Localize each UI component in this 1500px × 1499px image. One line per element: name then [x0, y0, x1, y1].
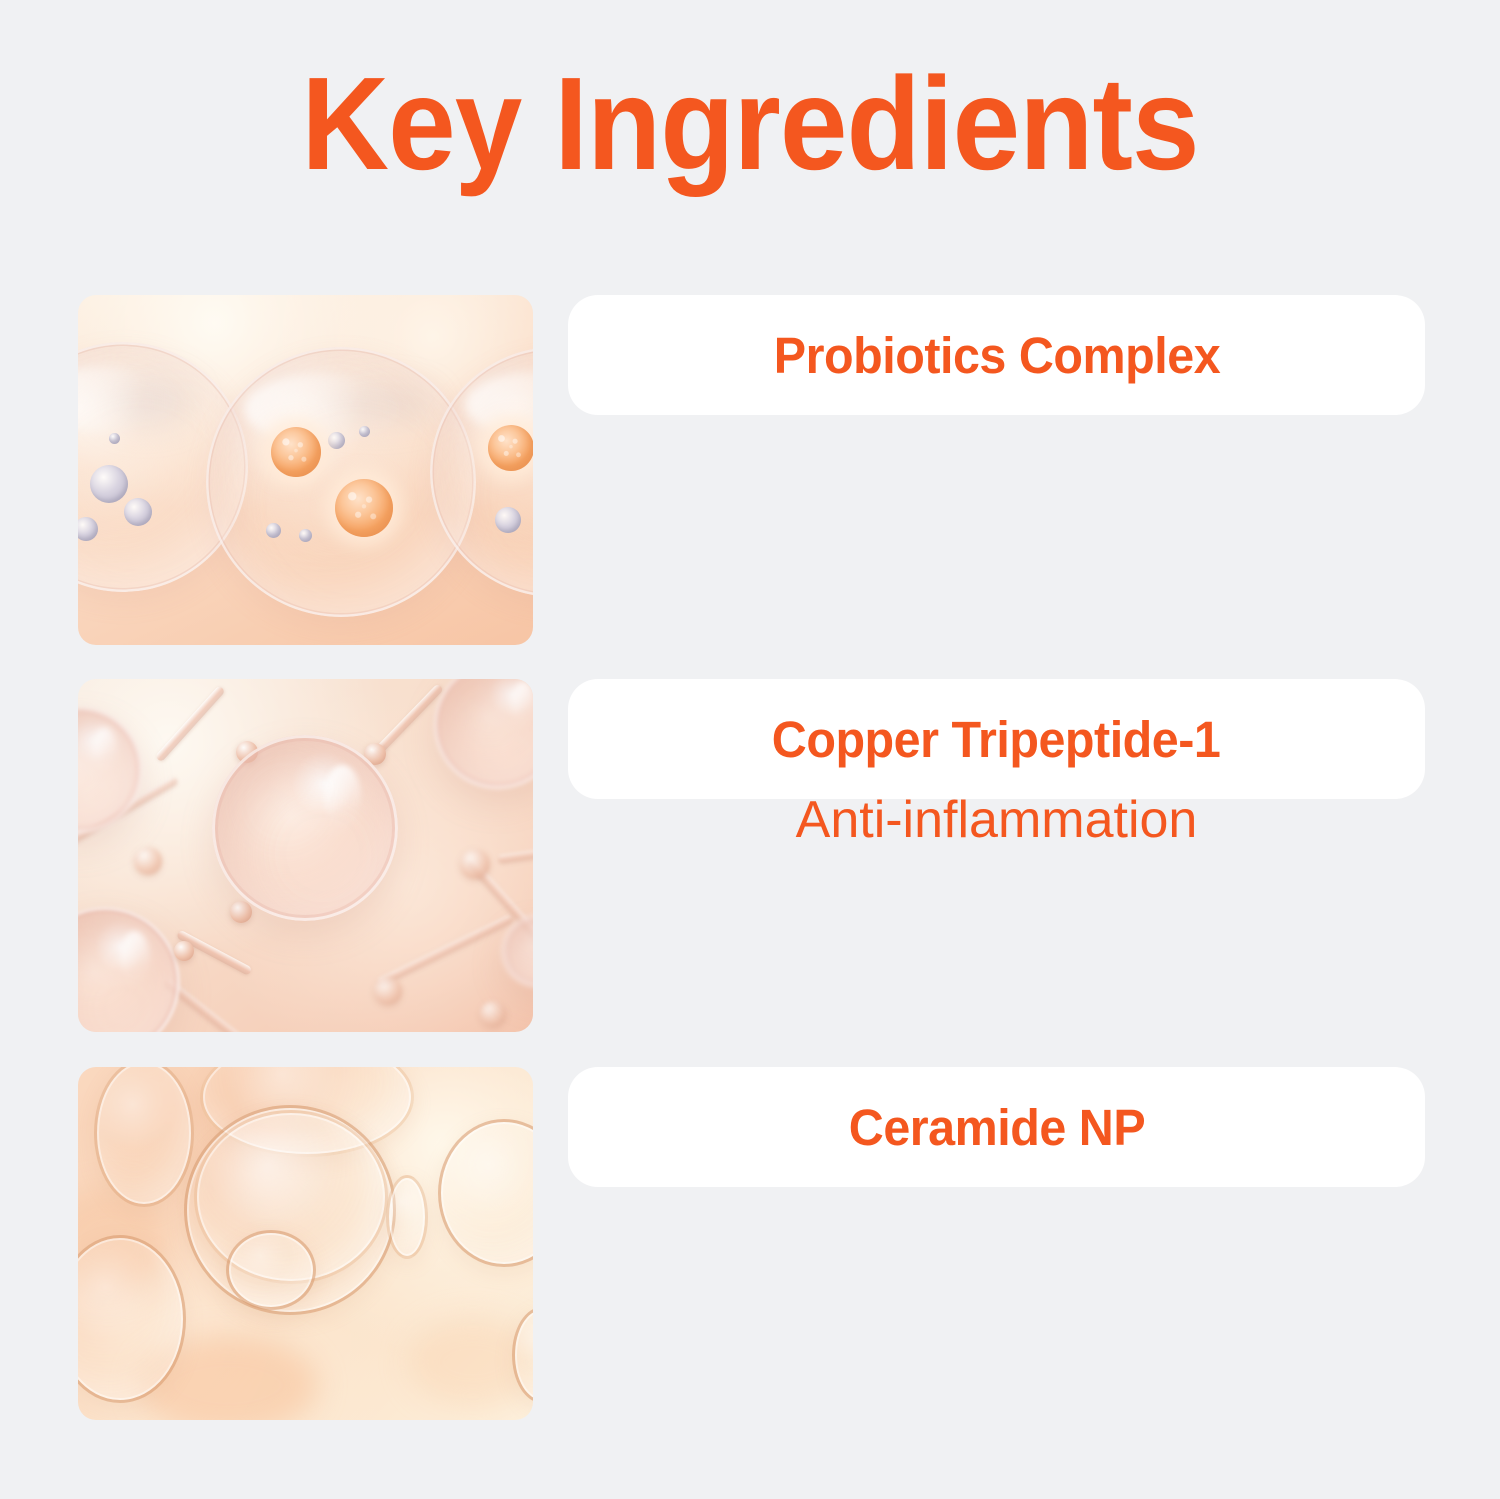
- bubble-ring: [226, 1230, 316, 1310]
- molecular-bond: [497, 838, 533, 864]
- bubble-ring: [386, 1175, 428, 1259]
- molecular-sphere: [78, 707, 142, 833]
- molecular-node: [480, 1001, 506, 1027]
- bubble-ring: [94, 1067, 194, 1207]
- ingredient-name-label: Ceramide NP: [848, 1098, 1144, 1157]
- microbe-shape: [271, 427, 321, 477]
- page-title: Key Ingredients: [60, 58, 1440, 190]
- molecular-bond: [155, 685, 226, 762]
- particle-shape: [359, 426, 370, 437]
- probiotic-bubbles-photo: [78, 295, 533, 645]
- particle-shape: [124, 498, 152, 526]
- molecular-bond: [163, 978, 287, 1032]
- particle-shape: [109, 433, 120, 444]
- molecular-sphere: [78, 907, 180, 1032]
- microbe-shape: [488, 425, 533, 471]
- molecular-bond: [376, 914, 515, 988]
- molecular-node: [460, 849, 490, 879]
- molecular-node: [174, 941, 194, 961]
- bubble-ring: [438, 1119, 533, 1267]
- bubble-rings-photo: [78, 1067, 533, 1420]
- ingredient-row-ceramide: Ceramide NP Enhances Skin Barrier: [0, 1067, 1500, 1420]
- ingredient-name-card-ceramide: Ceramide NP: [568, 1067, 1425, 1187]
- particle-shape: [299, 529, 312, 542]
- molecular-sphere: [502, 915, 533, 987]
- ingredient-row-probiotics: Probiotics Complex Anti-inflammation: [0, 295, 1500, 645]
- particle-shape: [328, 432, 345, 449]
- molecular-node: [230, 901, 252, 923]
- molecular-node: [134, 847, 162, 875]
- ingredient-name-label: Probiotics Complex: [773, 326, 1219, 385]
- particle-shape: [90, 465, 128, 503]
- molecular-node: [374, 977, 402, 1005]
- microbe-shape: [335, 479, 393, 537]
- molecular-lattice-photo: [78, 679, 533, 1032]
- molecular-sphere: [212, 735, 398, 921]
- particle-shape: [266, 523, 281, 538]
- ingredient-row-copper-tripeptide: Copper Tripeptide-1 Enhances Collagen: [0, 679, 1500, 1032]
- molecular-sphere: [434, 679, 533, 789]
- particle-shape: [495, 507, 521, 533]
- ingredient-name-card-probiotics: Probiotics Complex: [568, 295, 1425, 415]
- ingredient-name-label: Copper Tripeptide-1: [772, 710, 1221, 769]
- ingredient-name-card-copper-tripeptide: Copper Tripeptide-1: [568, 679, 1425, 799]
